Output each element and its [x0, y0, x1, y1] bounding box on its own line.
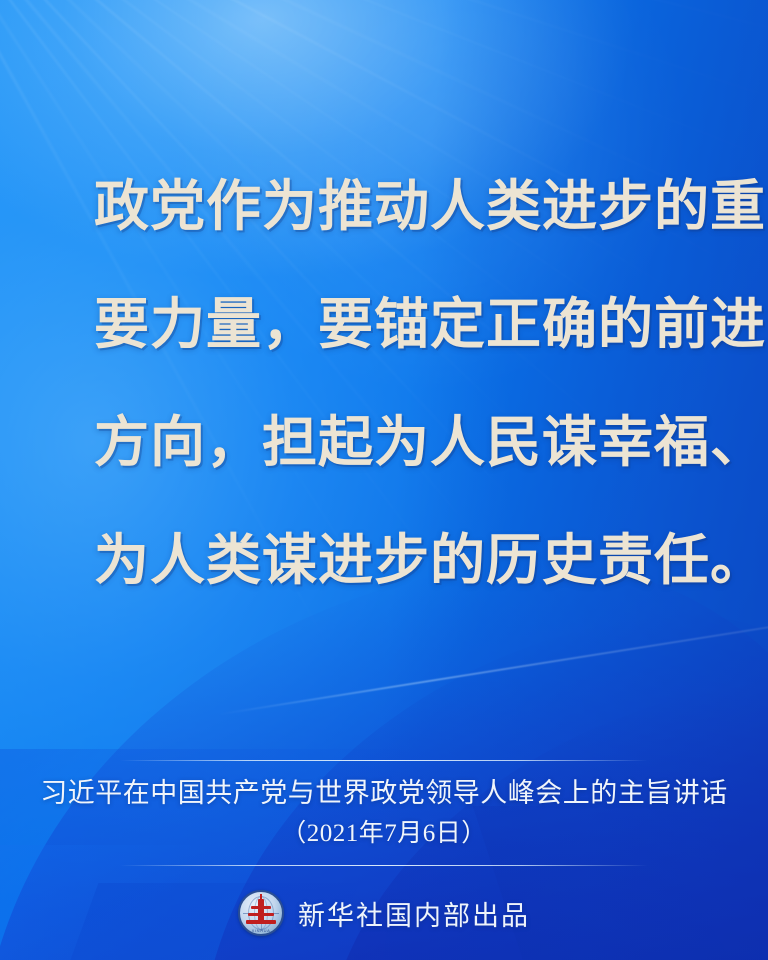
quote-block: 政党作为推动人类进步的重 要力量，要锚定正确的前进 方向，担起为人民谋幸福、 为…	[94, 148, 694, 620]
pagoda-arm-lower	[248, 913, 274, 916]
pagoda-tower-icon	[258, 899, 264, 922]
divider-top	[120, 760, 648, 761]
pagoda-arm-upper	[251, 906, 271, 909]
xinhua-emblem-icon: XINHUA	[238, 890, 284, 936]
quote-line: 政党作为推动人类进步的重	[94, 148, 694, 266]
brand-name: 新华社国内部出品	[298, 894, 530, 933]
pagoda-base	[246, 920, 276, 924]
light-ray	[0, 0, 768, 80]
quote-line: 方向，担起为人民谋幸福、	[94, 384, 694, 502]
speech-date: （2021年7月6日）	[0, 816, 768, 852]
attribution-block: 习近平在中国共产党与世界政党领导人峰会上的主旨讲话 （2021年7月6日）	[0, 775, 768, 852]
quote-line: 为人类谋进步的历史责任。	[94, 502, 694, 620]
poster-canvas: 政党作为推动人类进步的重 要力量，要锚定正确的前进 方向，担起为人民谋幸福、 为…	[0, 0, 768, 960]
brand-footer: XINHUA 新华社国内部出品	[0, 890, 768, 936]
quote-line: 要力量，要锚定正确的前进	[94, 266, 694, 384]
divider-bottom	[120, 865, 648, 866]
speech-title: 习近平在中国共产党与世界政党领导人峰会上的主旨讲话	[0, 775, 768, 811]
logo-ring-text: XINHUA	[240, 928, 282, 933]
